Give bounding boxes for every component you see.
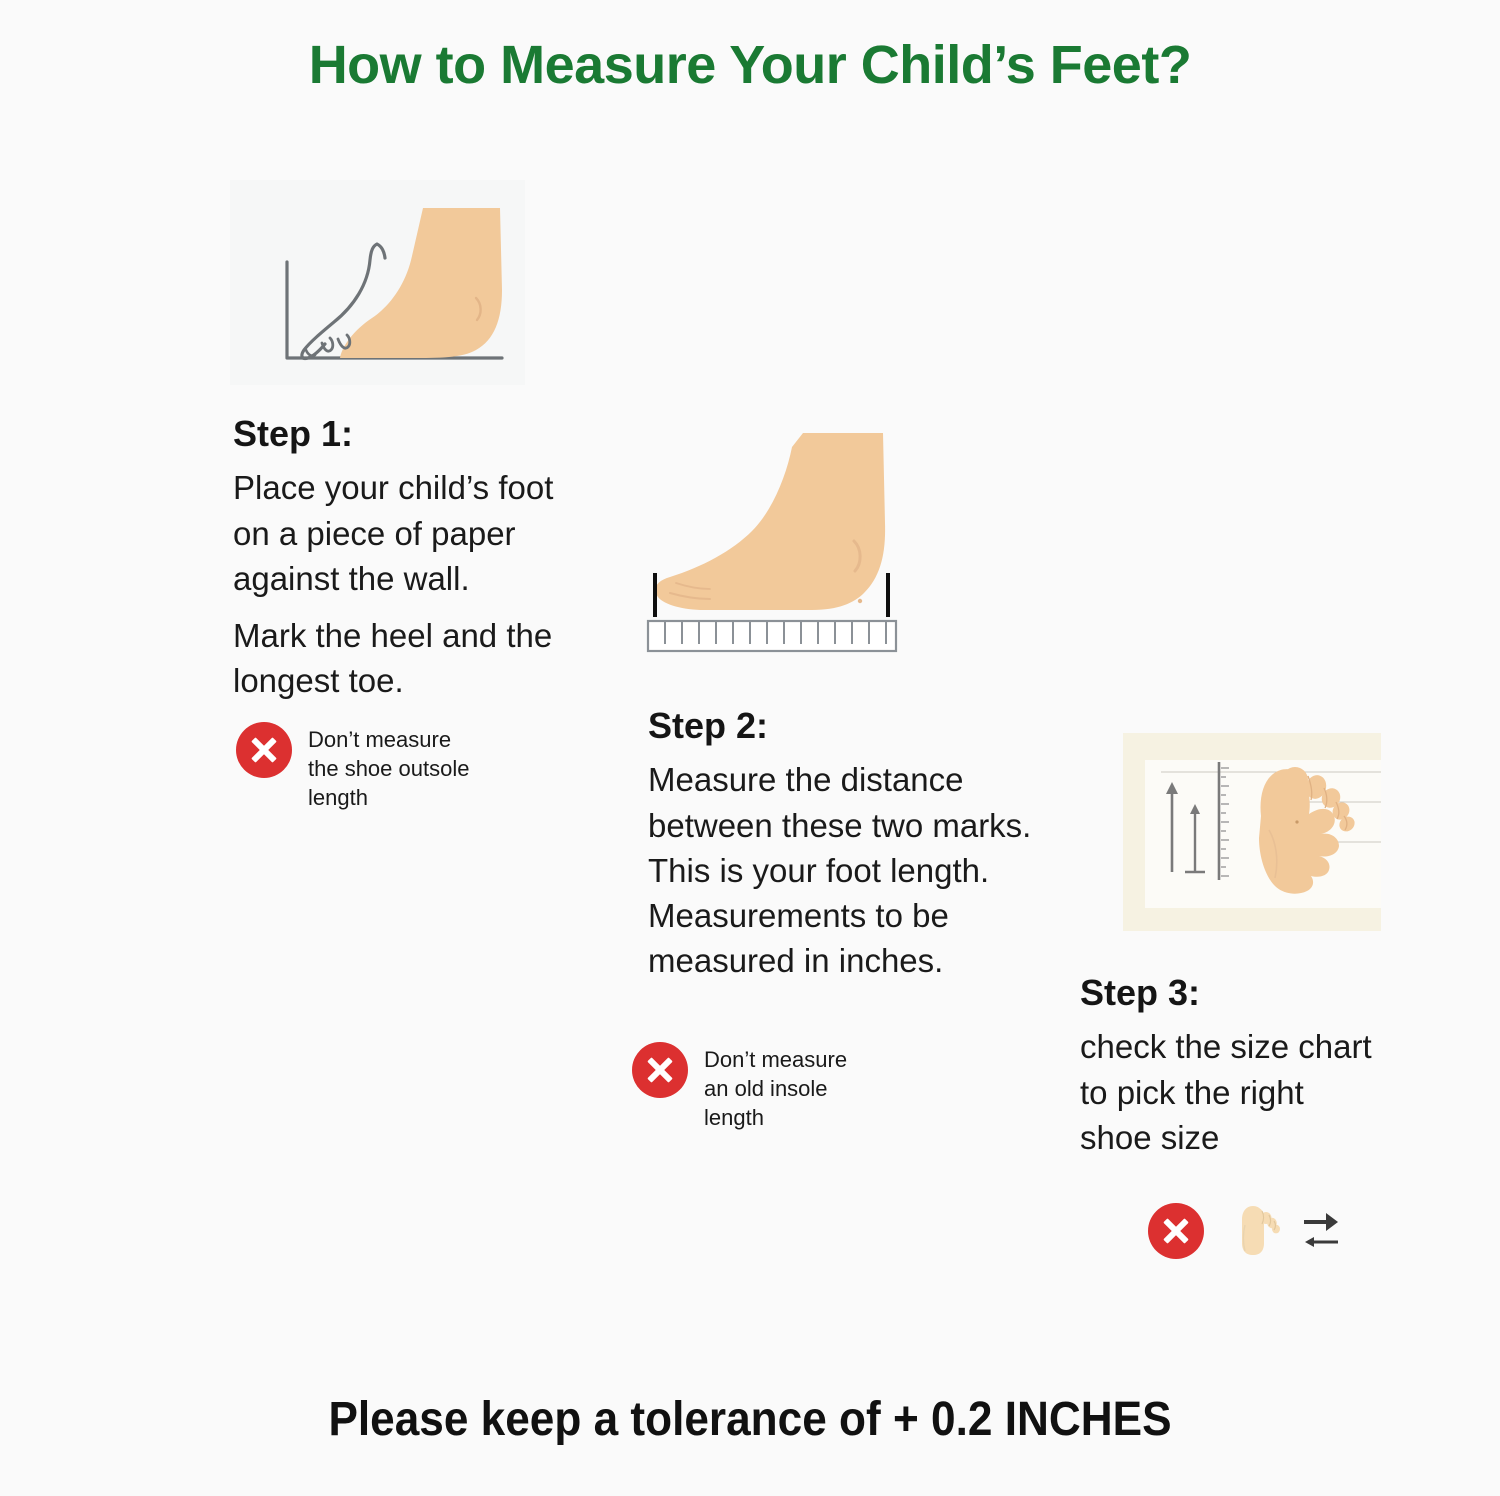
step-3-body: check the size chart to pick the right s…: [1080, 1024, 1430, 1160]
squeeze-arrows-icon: [1302, 1207, 1340, 1255]
step-2-warning-text: Don’t measure an old insole length: [704, 1042, 847, 1132]
step-2-heading: Step 2:: [648, 705, 1078, 747]
foot-with-ruler-svg: [640, 425, 940, 660]
page-title: How to Measure Your Child’s Feet?: [0, 34, 1500, 96]
step-3-chart-panel: [1145, 760, 1381, 908]
step-1-text-block: Step 1: Place your child’s foot on a pie…: [233, 413, 563, 703]
step-2-paragraph-1: Measure the distance between these two m…: [648, 757, 1078, 983]
red-x-circle-icon: [1148, 1203, 1204, 1259]
foot-sole-shape: [1259, 767, 1358, 894]
step-1-warning: Don’t measure the shoe outsole length: [236, 722, 566, 812]
red-x-circle-icon: [632, 1042, 688, 1098]
ruler-body: [648, 621, 896, 651]
foot-side-view-against-wall-svg: [230, 180, 525, 385]
short-measure-arrow-icon: [1185, 804, 1205, 872]
step-3-text-block: Step 3: check the size chart to pick the…: [1080, 972, 1430, 1160]
step-2-body: Measure the distance between these two m…: [648, 757, 1078, 983]
foot-side-shape: [655, 433, 885, 610]
step-1-warning-text: Don’t measure the shoe outsole length: [308, 722, 469, 812]
arrow-left-icon: [1305, 1237, 1338, 1247]
step-3-illustration: [1123, 733, 1381, 931]
step-1-illustration: [230, 180, 525, 385]
red-x-circle-icon: [236, 722, 292, 778]
step-2-illustration: [640, 425, 940, 660]
heel-dot: [858, 599, 862, 603]
step-3-paragraph-1: check the size chart to pick the right s…: [1080, 1024, 1430, 1160]
foot-sole-chart-svg: [1145, 760, 1381, 908]
step-1-heading: Step 1:: [233, 413, 563, 455]
infographic-page: How to Measure Your Child’s Feet? Step 1…: [0, 0, 1500, 1496]
tolerance-note: Please keep a tolerance of + 0.2 INCHES: [60, 1392, 1440, 1447]
step-2-text-block: Step 2: Measure the distance between the…: [648, 705, 1078, 983]
step-3-heading: Step 3:: [1080, 972, 1430, 1014]
step-1-paragraph-2: Mark the heel and the longest toe.: [233, 613, 563, 703]
vertical-ruler-ticks: [1221, 768, 1229, 876]
long-measure-arrow-icon: [1166, 782, 1178, 872]
step-1-body: Place your child’s foot on a piece of pa…: [233, 465, 563, 703]
foot-sole-icon: [1226, 1203, 1280, 1259]
step-2-warning: Don’t measure an old insole length: [632, 1042, 972, 1132]
arrow-right-icon: [1304, 1213, 1338, 1231]
toe-curl-1: [322, 338, 333, 351]
step-3-warning: [1148, 1203, 1448, 1259]
step-1-paragraph-1: Place your child’s foot on a piece of pa…: [233, 465, 563, 601]
toe-curl-3: [306, 350, 315, 356]
